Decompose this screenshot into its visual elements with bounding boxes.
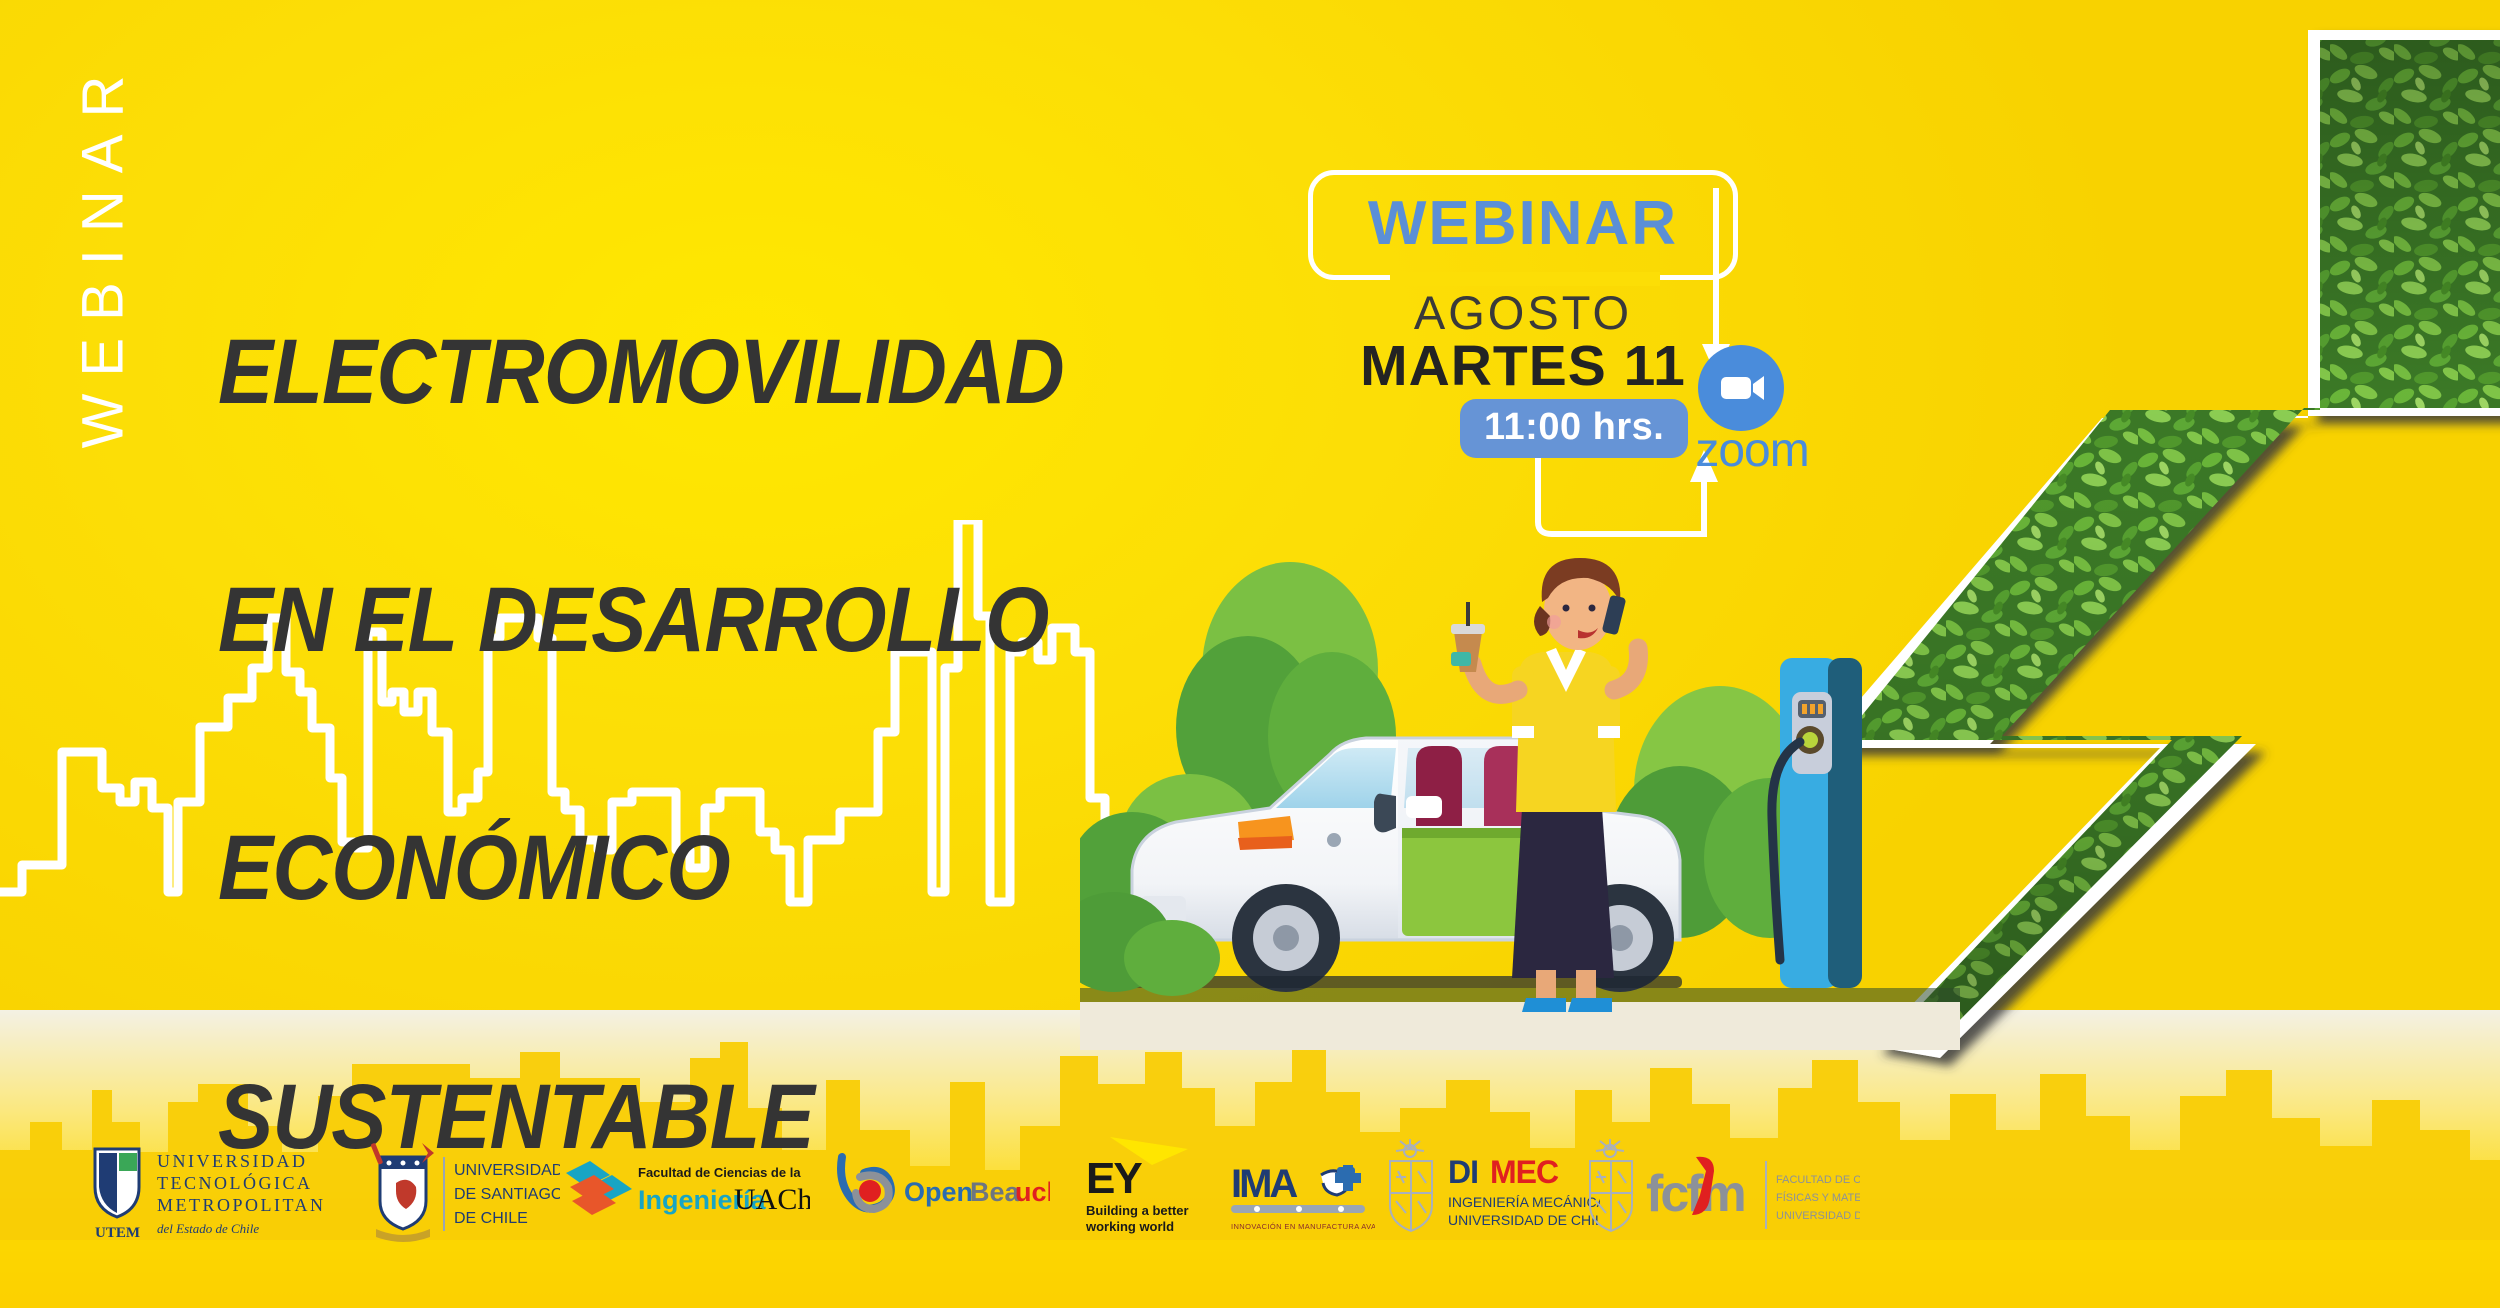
usach-line-1: UNIVERSIDAD xyxy=(454,1162,560,1179)
utem-line-2: TECNOLÓGICA xyxy=(157,1172,313,1193)
uach-line-1: Facultad de Ciencias de la xyxy=(638,1165,801,1180)
utem-tagline: del Estado de Chile xyxy=(157,1221,259,1236)
ima-tagline: INNOVACIÓN EN MANUFACTURA AVANZADA xyxy=(1231,1222,1375,1231)
dimec-line-1: INGENIERÍA MECÁNICA xyxy=(1448,1194,1600,1210)
usach-line-2: DE SANTIAGO xyxy=(454,1186,560,1203)
title-line-3: ECONÓMICO xyxy=(218,827,1064,910)
title-line-1: ELECTROMOVILIDAD xyxy=(218,331,1064,414)
sponsor-logo-dimec: DI MEC INGENIERÍA MECÁNICA UNIVERSIDAD D… xyxy=(1380,1135,1600,1245)
video-camera-icon xyxy=(1698,345,1784,431)
utem-acronym: UTEM xyxy=(95,1225,140,1241)
uchile-crest-icon xyxy=(1390,1139,1432,1231)
openbeauchef-mark-icon xyxy=(841,1157,891,1209)
ev-charging-scene xyxy=(1080,540,1960,1050)
ey-acronym: EY xyxy=(1086,1154,1142,1203)
openbeauchef-part-3: uch xyxy=(1015,1177,1050,1207)
ima-acronym: IMA xyxy=(1231,1162,1297,1206)
fcfm-line-1: FACULTAD DE CIENCIAS xyxy=(1776,1174,1860,1186)
utem-shield-icon xyxy=(95,1149,139,1217)
uchile-crest-icon xyxy=(1590,1139,1632,1231)
usach-line-3: DE CHILE xyxy=(454,1210,528,1227)
sponsor-logo-ey: EY Building a better working world xyxy=(1080,1135,1210,1245)
event-day: MARTES 11 xyxy=(1308,333,1738,399)
sponsor-logo-fcfm: fcfm FACULTAD DE CIENCIAS FÍSICAS Y MATE… xyxy=(1580,1135,1860,1245)
utem-line-1: UNIVERSIDAD xyxy=(157,1151,308,1171)
dimec-part-2: MEC xyxy=(1490,1154,1559,1190)
ey-line-1: Building a better xyxy=(1086,1203,1189,1218)
zoom-logo[interactable]: zoom xyxy=(1690,345,1814,469)
sponsor-logo-openbeauchef: Open Bea uch xyxy=(830,1135,1050,1245)
fcfm-line-2: FÍSICAS Y MATEMÁTICAS xyxy=(1776,1191,1860,1204)
sponsor-logo-ima: IMA INNOVACIÓN EN MANUFACTURA AVANZADA xyxy=(1225,1135,1375,1245)
ey-line-2: working world xyxy=(1085,1219,1174,1234)
event-month: AGOSTO xyxy=(1308,285,1738,340)
fcfm-line-3: UNIVERSIDAD DE CHILE xyxy=(1776,1210,1860,1222)
dimec-part-1: DI xyxy=(1448,1154,1478,1190)
usach-crest-icon xyxy=(370,1143,434,1242)
vertical-webinar-label: WEBINAR xyxy=(69,59,136,449)
zoom-wordmark: zoom xyxy=(1682,423,1822,478)
event-time-badge: 11:00 hrs. xyxy=(1460,399,1688,458)
webinar-banner: WEBINAR ELECTROMOVILIDAD EN EL DESARROLL… xyxy=(0,0,2500,1308)
uach-mark-icon xyxy=(566,1161,632,1215)
webinar-badge-label: WEBINAR xyxy=(1308,188,1738,259)
openbeauchef-part-1: Open xyxy=(904,1177,973,1207)
utem-line-3: METROPOLITANA xyxy=(157,1195,325,1215)
ev-charging-station-icon xyxy=(1772,658,1862,988)
sponsor-logo-strip: UTEM UNIVERSIDAD TECNOLÓGICA METROPOLITA… xyxy=(0,1135,2500,1245)
webinar-badge-mask xyxy=(1390,272,1660,286)
uach-line-3: UACh xyxy=(734,1183,810,1216)
openbeauchef-part-2: Bea xyxy=(970,1177,1021,1207)
sponsor-logo-uach: Facultad de Ciencias de la Ingeniería UA… xyxy=(560,1135,810,1245)
title-line-2: EN EL DESARROLLO xyxy=(218,579,1064,662)
dimec-line-2: UNIVERSIDAD DE CHILE xyxy=(1448,1212,1600,1228)
sponsor-logo-utem: UTEM UNIVERSIDAD TECNOLÓGICA METROPOLITA… xyxy=(85,1135,325,1245)
sponsor-logo-usach: UNIVERSIDAD DE SANTIAGO DE CHILE xyxy=(360,1135,560,1245)
